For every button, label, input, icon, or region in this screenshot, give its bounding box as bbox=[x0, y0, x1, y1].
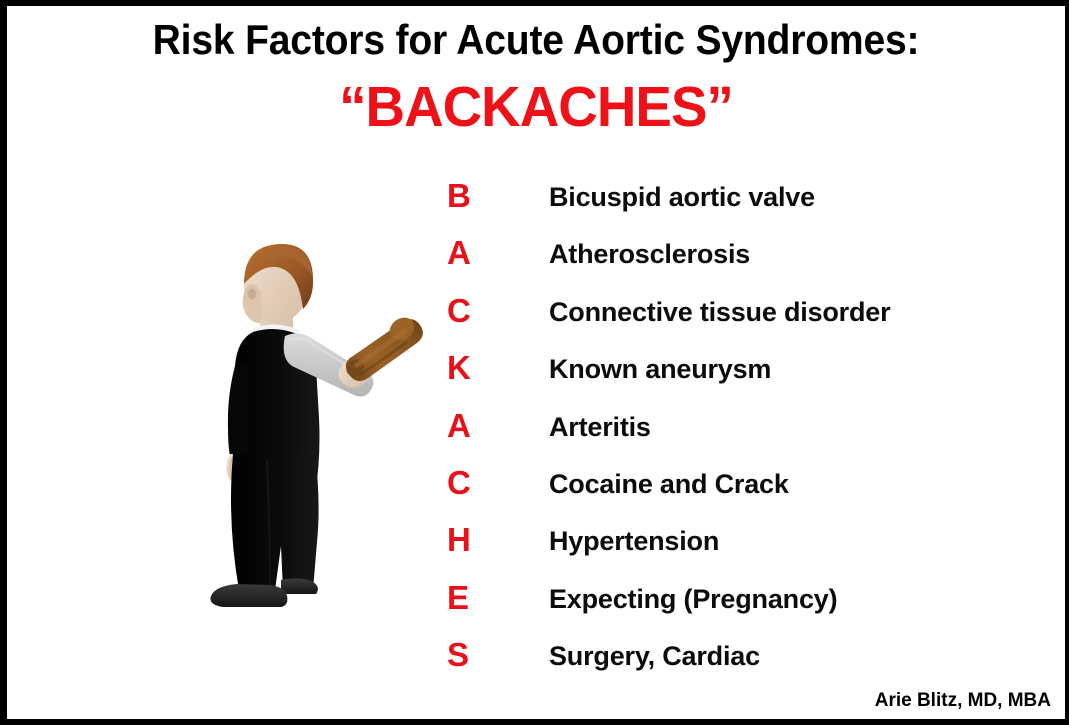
mnemonic-text: Cocaine and Crack bbox=[549, 468, 789, 501]
mnemonic-letter: C bbox=[447, 465, 483, 501]
author-credit: Arie Blitz, MD, MBA bbox=[875, 690, 1051, 712]
page-title: Risk Factors for Acute Aortic Syndromes: bbox=[44, 14, 1028, 66]
mnemonic-letter: A bbox=[447, 235, 483, 271]
figure-head bbox=[243, 244, 313, 329]
figure-legs bbox=[231, 454, 319, 590]
mnemonic-letter: A bbox=[447, 408, 483, 444]
batter-illustration bbox=[197, 232, 432, 612]
list-item: A Atherosclerosis bbox=[447, 235, 1007, 292]
mnemonic-text: Atherosclerosis bbox=[549, 238, 750, 271]
mnemonic-letter: K bbox=[447, 350, 483, 386]
baseball-bat bbox=[343, 313, 423, 381]
mnemonic-text: Bicuspid aortic valve bbox=[549, 181, 815, 214]
mnemonic-letter: E bbox=[447, 580, 483, 616]
list-item: C Cocaine and Crack bbox=[447, 465, 1007, 522]
mnemonic-text: Connective tissue disorder bbox=[549, 296, 890, 329]
list-item: H Hypertension bbox=[447, 522, 1007, 579]
mnemonic-title: “BACKACHES” bbox=[28, 76, 1044, 138]
mnemonic-letter: C bbox=[447, 293, 483, 329]
list-item: A Arteritis bbox=[447, 408, 1007, 465]
mnemonic-text: Known aneurysm bbox=[549, 353, 771, 386]
mnemonic-text: Expecting (Pregnancy) bbox=[549, 583, 837, 616]
list-item: K Known aneurysm bbox=[447, 350, 1007, 407]
list-item: C Connective tissue disorder bbox=[447, 293, 1007, 350]
slide-canvas: Risk Factors for Acute Aortic Syndromes:… bbox=[0, 0, 1069, 725]
list-item: S Surgery, Cardiac bbox=[447, 637, 1007, 694]
list-item: B Bicuspid aortic valve bbox=[447, 178, 1007, 235]
list-item: E Expecting (Pregnancy) bbox=[447, 580, 1007, 637]
batter-figure-svg bbox=[197, 232, 432, 612]
mnemonic-text: Arteritis bbox=[549, 411, 651, 444]
mnemonic-list: B Bicuspid aortic valve A Atherosclerosi… bbox=[447, 178, 1007, 695]
mnemonic-letter: S bbox=[447, 637, 483, 673]
title-block: Risk Factors for Acute Aortic Syndromes:… bbox=[7, 14, 1065, 138]
mnemonic-text: Hypertension bbox=[549, 525, 719, 558]
mnemonic-letter: B bbox=[447, 178, 483, 214]
mnemonic-letter: H bbox=[447, 522, 483, 558]
mnemonic-text: Surgery, Cardiac bbox=[549, 640, 760, 673]
